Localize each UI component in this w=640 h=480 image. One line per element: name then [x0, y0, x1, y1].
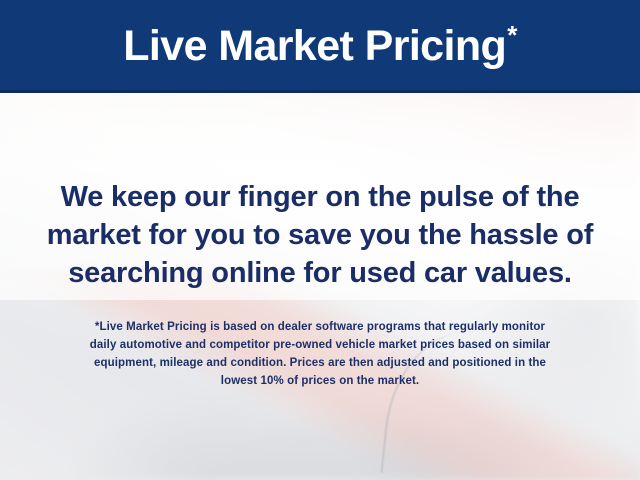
disclaimer-line-3: equipment, mileage and condition. Prices…	[0, 354, 640, 372]
live-market-pricing-banner: Live Market Pricing* We keep our finger …	[0, 0, 640, 480]
headline-line-3: searching online for used car values.	[0, 254, 640, 292]
banner-title-asterisk: *	[507, 20, 517, 50]
disclaimer-line-1: *Live Market Pricing is based on dealer …	[0, 318, 640, 336]
disclaimer-line-2: daily automotive and competitor pre-owne…	[0, 336, 640, 354]
disclaimer-line-4: lowest 10% of prices on the market.	[0, 372, 640, 390]
headline-block: We keep our finger on the pulse of the m…	[0, 178, 640, 292]
header-banner: Live Market Pricing*	[0, 0, 640, 90]
banner-title-text: Live Market Pricing	[123, 22, 506, 70]
headline-line-2: market for you to save you the hassle of	[0, 216, 640, 254]
banner-bottom-rule	[0, 90, 640, 93]
headline-line-1: We keep our finger on the pulse of the	[0, 178, 640, 216]
disclaimer-block: *Live Market Pricing is based on dealer …	[0, 318, 640, 390]
banner-title: Live Market Pricing*	[123, 25, 516, 68]
